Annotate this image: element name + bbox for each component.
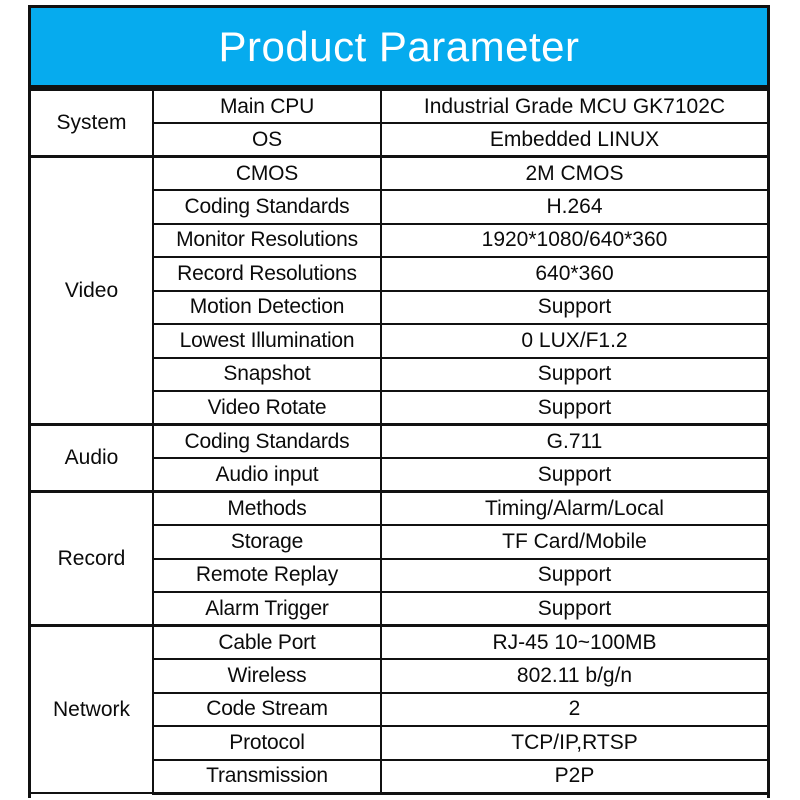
parameter-value: 2M CMOS [381, 157, 767, 191]
parameter-value: G.711 [381, 425, 767, 459]
parameter-value: 640*360 [381, 257, 767, 291]
parameter-value: Industrial Grade MCU GK7102C [381, 90, 767, 124]
parameter-label: Coding Standards [153, 425, 381, 459]
parameter-value: Support [381, 559, 767, 593]
parameter-label: OS [153, 123, 381, 157]
group-label: Network [31, 626, 153, 794]
parameter-label: Transmission [153, 760, 381, 794]
parameter-value: Embedded LINUX [381, 123, 767, 157]
parameter-value: P2P [381, 760, 767, 794]
parameter-label: Audio input [153, 458, 381, 492]
parameter-value: Support [381, 391, 767, 425]
parameter-value: Support [381, 458, 767, 492]
parameter-label: Main CPU [153, 90, 381, 124]
parameter-value: Support [381, 291, 767, 325]
group-label: Record [31, 492, 153, 626]
parameter-label: Wireless [153, 659, 381, 693]
parameter-value: TF Card/Mobile [381, 525, 767, 559]
table-row: AudioCoding StandardsG.711 [31, 425, 767, 459]
parameter-value: 0 LUX/F1.2 [381, 324, 767, 358]
specification-table-body: SystemMain CPUIndustrial Grade MCU GK710… [31, 90, 767, 794]
parameter-value: 1920*1080/640*360 [381, 224, 767, 258]
parameter-label: Protocol [153, 726, 381, 760]
table-row: SystemMain CPUIndustrial Grade MCU GK710… [31, 90, 767, 124]
parameter-value: RJ-45 10~100MB [381, 626, 767, 660]
parameter-label: CMOS [153, 157, 381, 191]
specification-table: SystemMain CPUIndustrial Grade MCU GK710… [31, 88, 767, 795]
parameter-value: 2 [381, 693, 767, 727]
parameter-value: 802.11 b/g/n [381, 659, 767, 693]
parameter-label: Lowest Illumination [153, 324, 381, 358]
table-row: NetworkCable PortRJ-45 10~100MB [31, 626, 767, 660]
parameter-label: Methods [153, 492, 381, 526]
parameter-value: TCP/IP,RTSP [381, 726, 767, 760]
parameter-value: Support [381, 592, 767, 626]
parameter-value: Support [381, 358, 767, 392]
product-parameter-page: Product Parameter SystemMain CPUIndustri… [0, 0, 800, 800]
group-label: Audio [31, 425, 153, 492]
parameter-label: Coding Standards [153, 190, 381, 224]
parameter-label: Video Rotate [153, 391, 381, 425]
parameter-label: Motion Detection [153, 291, 381, 325]
table-row: VideoCMOS2M CMOS [31, 157, 767, 191]
page-title: Product Parameter [219, 26, 580, 68]
group-label: Video [31, 157, 153, 425]
parameter-value: H.264 [381, 190, 767, 224]
parameter-label: Code Stream [153, 693, 381, 727]
parameter-label: Storage [153, 525, 381, 559]
parameter-label: Monitor Resolutions [153, 224, 381, 258]
parameter-label: Snapshot [153, 358, 381, 392]
spec-sheet: Product Parameter SystemMain CPUIndustri… [28, 5, 770, 798]
group-label: System [31, 90, 153, 157]
parameter-value: Timing/Alarm/Local [381, 492, 767, 526]
parameter-label: Alarm Trigger [153, 592, 381, 626]
title-banner: Product Parameter [31, 8, 767, 88]
table-row: RecordMethodsTiming/Alarm/Local [31, 492, 767, 526]
parameter-label: Record Resolutions [153, 257, 381, 291]
parameter-label: Cable Port [153, 626, 381, 660]
parameter-label: Remote Replay [153, 559, 381, 593]
